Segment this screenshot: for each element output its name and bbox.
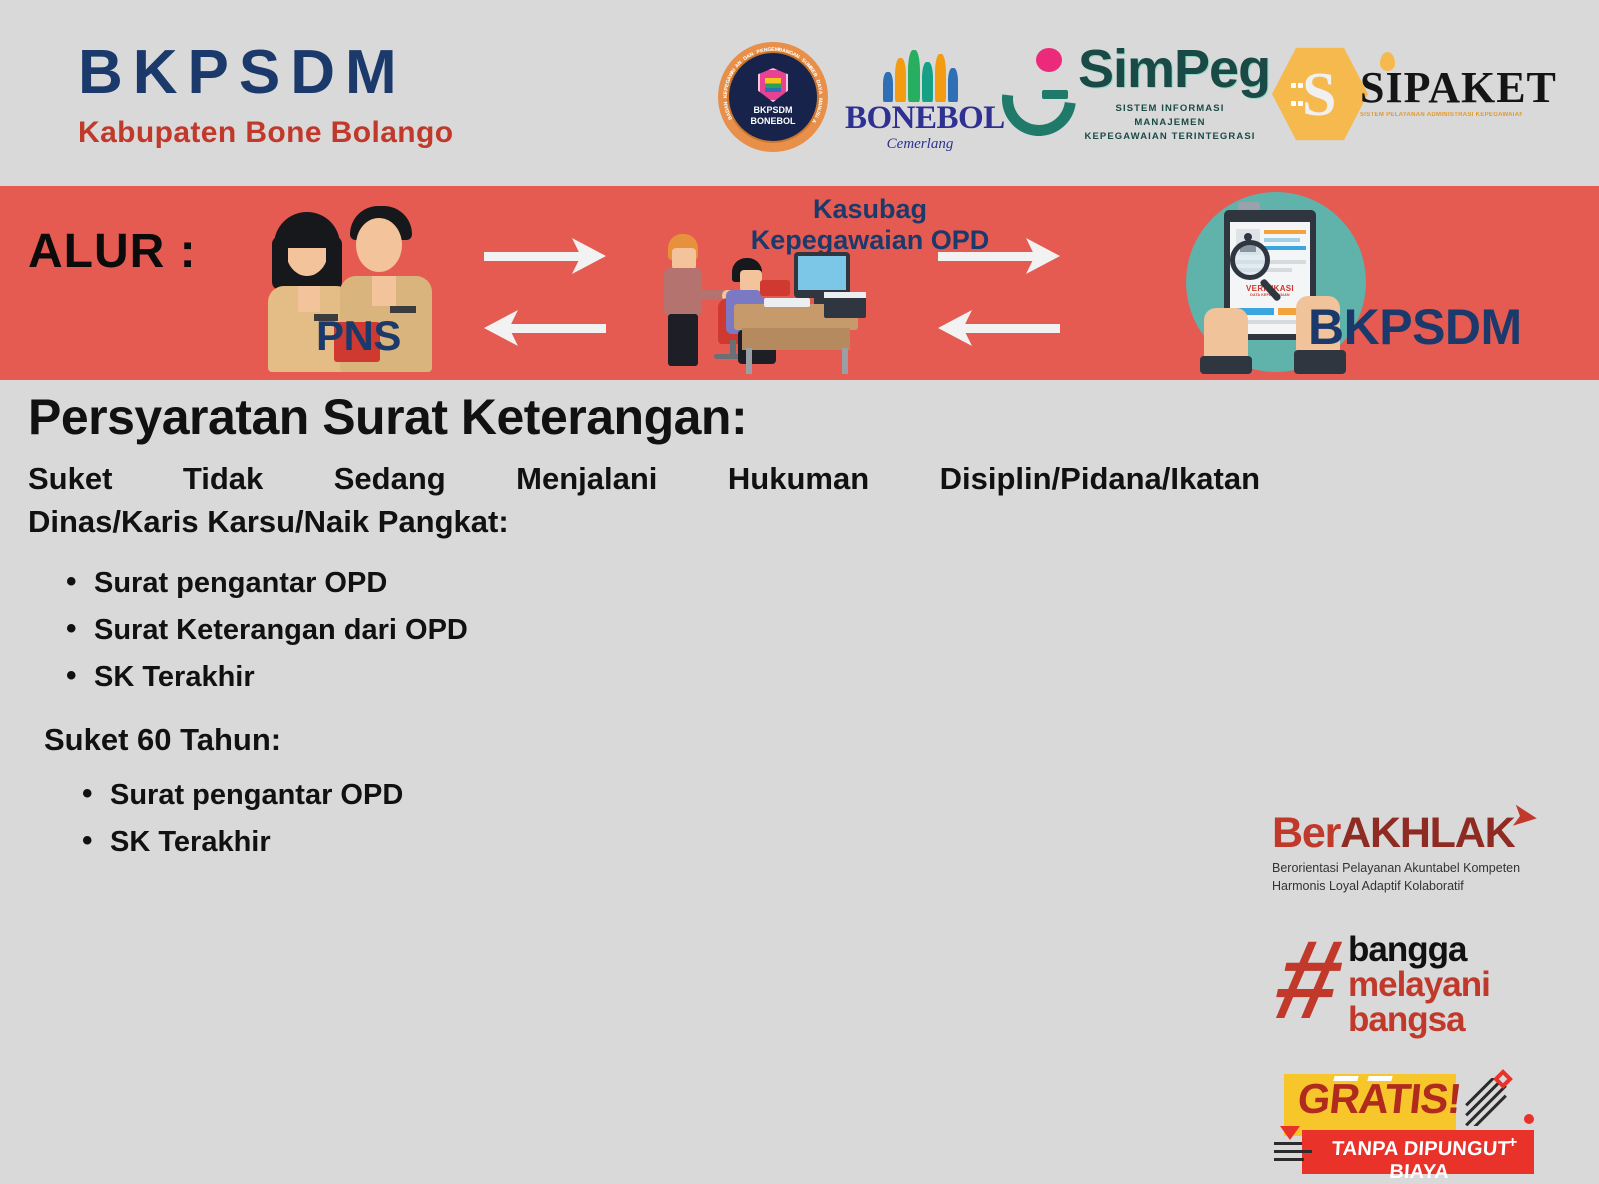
simpeg-dot-icon (1036, 48, 1062, 72)
content-area: Persyaratan Surat Keterangan: Suket Tida… (0, 380, 1599, 899)
berakhlak-suffix: AKHLAK (1340, 809, 1514, 857)
flow-arrow-right-1 (484, 248, 606, 264)
berakhlak-tagline: Berorientasi Pelayanan Akuntabel Kompete… (1272, 860, 1530, 896)
flow-label: ALUR : (28, 224, 197, 279)
keyboard-icon (764, 298, 810, 307)
bonebol-tagline: Cemerlang (845, 136, 995, 153)
gratis-subtitle: TANPA DIPUNGUT BIAYA (1312, 1138, 1527, 1184)
gratis-plus-icon: + (1508, 1134, 1517, 1152)
flow-arrow-right-2 (938, 248, 1060, 264)
flow-arrow-left-1 (484, 320, 606, 336)
seal-line-1: BKPSDM (753, 105, 792, 115)
gratis-triangle-icon (1280, 1126, 1300, 1140)
sipaket-tagline: SISTEM PELAYANAN ADMINISTRASI KEPEGAWAIA… (1360, 112, 1522, 118)
section2-title: Suket 60 Tahun: (44, 722, 281, 758)
seal-shield-icon (758, 68, 788, 102)
bkpsdm-seal-logo: BADAN KEPEGAWAIAN DAN PENGEMBANGAN SUMBE… (718, 42, 828, 152)
bonebol-emblem-icon (845, 40, 995, 102)
seal-shield-inner (765, 78, 781, 92)
berakhlak-wordmark: BerAKHLAK ➤ (1272, 812, 1530, 855)
section1-title-line2: Dinas/Karis Karsu/Naik Pangkat: (28, 504, 509, 539)
sipaket-wordmark: SIPAKET (1360, 66, 1557, 110)
telephone-icon (760, 280, 790, 296)
bonebol-wordmark: BONEBOL (845, 102, 995, 135)
kasubag-label-line1: Kasubag (813, 194, 927, 224)
bangga-melayani-bangsa-logo: # bangga melayani bangsa (1272, 926, 1530, 1038)
berakhlak-prefix: Ber (1272, 809, 1340, 857)
bangga-line2: melayani (1348, 967, 1490, 1002)
section2-requirements-list: Surat pengantar OPD SK Terakhir (76, 772, 403, 866)
simpeg-mark-icon (996, 46, 1082, 138)
bonebol-logo: BONEBOL Cemerlang (845, 40, 995, 153)
seal-text: BKPSDM BONEBOL (751, 105, 796, 126)
bangga-line3: bangsa (1348, 1002, 1490, 1037)
section1-title: Suket Tidak Sedang Menjalani Hukuman Dis… (28, 458, 1260, 544)
simpeg-logo: SimPeg SISTEM INFORMASI MANAJEMEN KEPEGA… (996, 40, 1256, 146)
simpeg-tagline-line2: KEPEGAWAIAN TERINTEGRASI (1084, 131, 1255, 142)
books-icon (824, 296, 866, 318)
berakhlak-tagline-line2: Harmonis Loyal Adaptif Kolaboratif (1272, 878, 1530, 896)
office-desk-illustration (660, 232, 890, 372)
flow-arrow-left-2 (938, 320, 1060, 336)
seal-line-2: BONEBOL (751, 116, 796, 126)
list-item: Surat Keterangan dari OPD (60, 607, 468, 654)
sipaket-s-glyph: S (1302, 64, 1336, 126)
gratis-word: GRATIS! (1296, 1078, 1463, 1120)
sipaket-logo: S SIPAKET SISTEM PELAYANAN ADMINISTRASI … (1272, 40, 1522, 148)
bangga-line1: bangga (1348, 932, 1490, 967)
brand-block: BKPSDM Kabupaten Bone Bolango (78, 42, 453, 150)
gratis-hatch-decoration-2-icon (1274, 1140, 1316, 1166)
berakhlak-tagline-line1: Berorientasi Pelayanan Akuntabel Kompete… (1272, 860, 1530, 878)
list-item: SK Terakhir (76, 819, 403, 866)
berakhlak-logo: BerAKHLAK ➤ Berorientasi Pelayanan Akunt… (1272, 812, 1530, 896)
bangga-lines: bangga melayani bangsa (1348, 932, 1490, 1037)
list-item: Surat pengantar OPD (76, 772, 403, 819)
list-item: Surat pengantar OPD (60, 560, 468, 607)
seal-inner-disc: BKPSDM BONEBOL (727, 51, 819, 143)
section1-title-line1: Suket Tidak Sedang Menjalani Hukuman Dis… (28, 458, 1260, 501)
bkpsdm-flow-label: BKPSDM (1308, 298, 1522, 356)
simpeg-wordmark: SimPeg (1078, 42, 1270, 96)
flow-band: ALUR : PNS Kasubag (0, 186, 1599, 380)
hashtag-icon: # (1269, 936, 1350, 1023)
section1-requirements-list: Surat pengantar OPD Surat Keterangan dar… (60, 560, 468, 701)
page-header: BKPSDM Kabupaten Bone Bolango BADAN KEPE… (0, 0, 1599, 186)
simpeg-tagline: SISTEM INFORMASI MANAJEMEN KEPEGAWAIAN T… (1082, 102, 1258, 143)
list-item: SK Terakhir (60, 654, 468, 701)
pns-label: PNS (316, 312, 401, 360)
berakhlak-swoosh-icon: ➤ (1510, 800, 1538, 833)
simpeg-tagline-line1: SISTEM INFORMASI MANAJEMEN (1116, 103, 1225, 128)
simpeg-dash-icon (1042, 90, 1068, 99)
gratis-badge: GRATIS! TANPA DIPUNGUT BIAYA + (1272, 1066, 1540, 1176)
brand-subtitle: Kabupaten Bone Bolango (78, 116, 453, 150)
magnifier-icon (1230, 240, 1270, 280)
page-title: Persyaratan Surat Keterangan: (28, 388, 747, 446)
brand-title: BKPSDM (78, 42, 453, 104)
gratis-dot-icon (1524, 1114, 1534, 1124)
